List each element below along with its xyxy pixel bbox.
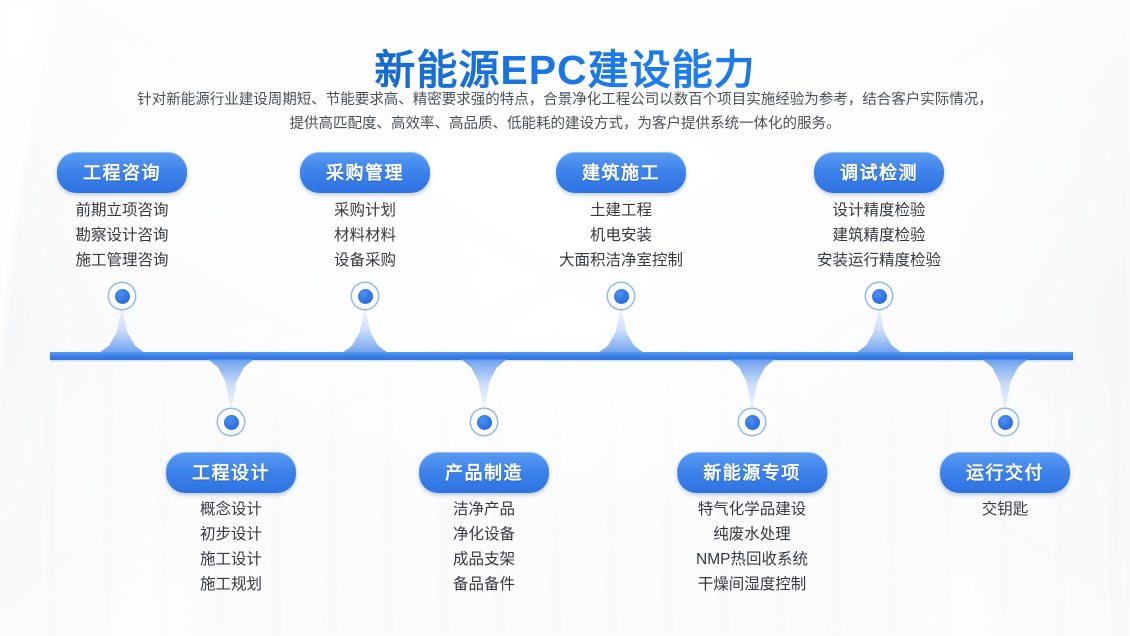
- list-item: 施工规划: [200, 572, 262, 597]
- timeline-dot-commissioning-testing[interactable]: [866, 283, 892, 309]
- page-subtitle: 针对新能源行业建设周期短、节能要求高、精密要求强的特点，合景净化工程公司以数百个…: [65, 88, 1065, 136]
- node-items-commissioning-testing: 设计精度检验 建筑精度检验 安装运行精度检验: [817, 198, 941, 273]
- list-item: 净化设备: [453, 522, 515, 547]
- slide-content: 新能源EPC建设能力 针对新能源行业建设周期短、节能要求高、精密要求强的特点，合…: [0, 0, 1130, 636]
- list-item: 干燥间湿度控制: [696, 572, 808, 597]
- node-pill-engineering-design[interactable]: 工程设计: [166, 452, 296, 493]
- node-pill-building-construction[interactable]: 建筑施工: [556, 152, 686, 193]
- list-item: 洁净产品: [453, 497, 515, 522]
- timeline-dot-operation-delivery[interactable]: [992, 409, 1018, 435]
- list-item: 机电安装: [559, 223, 683, 248]
- list-item: 前期立项咨询: [75, 198, 168, 223]
- list-item: 施工管理咨询: [75, 248, 168, 273]
- list-item: 建筑精度检验: [817, 223, 941, 248]
- timeline-dot-engineering-design[interactable]: [218, 409, 244, 435]
- list-item: 勘察设计咨询: [75, 223, 168, 248]
- node-items-new-energy-special: 特气化学品建设 纯废水处理 NMP热回收系统 干燥间湿度控制: [696, 497, 808, 597]
- list-item: NMP热回收系统: [696, 547, 808, 572]
- node-pill-product-manufacturing[interactable]: 产品制造: [419, 452, 549, 493]
- timeline-dot-new-energy-special[interactable]: [739, 409, 765, 435]
- node-items-building-construction: 土建工程 机电安装 大面积洁净室控制: [559, 198, 683, 273]
- list-item: 大面积洁净室控制: [559, 248, 683, 273]
- node-items-procurement-management: 采购计划 材料材料 设备采购: [334, 198, 396, 273]
- list-item: 采购计划: [334, 198, 396, 223]
- list-item: 交钥匙: [982, 497, 1029, 522]
- node-pill-procurement-management[interactable]: 采购管理: [300, 152, 430, 193]
- node-items-engineering-design: 概念设计 初步设计 施工设计 施工规划: [200, 497, 262, 597]
- list-item: 安装运行精度检验: [817, 248, 941, 273]
- page-title: 新能源EPC建设能力: [0, 36, 1130, 96]
- list-item: 材料材料: [334, 223, 396, 248]
- node-pill-new-energy-special[interactable]: 新能源专项: [677, 452, 827, 493]
- list-item: 纯废水处理: [696, 522, 808, 547]
- timeline-dot-building-construction[interactable]: [608, 283, 634, 309]
- list-item: 初步设计: [200, 522, 262, 547]
- node-pill-operation-delivery[interactable]: 运行交付: [940, 452, 1070, 493]
- timeline-dot-engineering-consulting[interactable]: [109, 283, 135, 309]
- subtitle-line-2: 提供高匹配度、高效率、高品质、低能耗的建设方式，为客户提供系统一体化的服务。: [65, 112, 1065, 136]
- node-pill-commissioning-testing[interactable]: 调试检测: [814, 152, 944, 193]
- node-items-operation-delivery: 交钥匙: [982, 497, 1029, 522]
- list-item: 设计精度检验: [817, 198, 941, 223]
- list-item: 概念设计: [200, 497, 262, 522]
- list-item: 设备采购: [334, 248, 396, 273]
- list-item: 特气化学品建设: [696, 497, 808, 522]
- node-pill-engineering-consulting[interactable]: 工程咨询: [57, 152, 187, 193]
- list-item: 土建工程: [559, 198, 683, 223]
- timeline-dot-product-manufacturing[interactable]: [471, 409, 497, 435]
- list-item: 成品支架: [453, 547, 515, 572]
- list-item: 施工设计: [200, 547, 262, 572]
- list-item: 备品备件: [453, 572, 515, 597]
- timeline-dot-procurement-management[interactable]: [352, 283, 378, 309]
- node-items-engineering-consulting: 前期立项咨询 勘察设计咨询 施工管理咨询: [75, 198, 168, 273]
- timeline-spine: [50, 352, 1073, 360]
- node-items-product-manufacturing: 洁净产品 净化设备 成品支架 备品备件: [453, 497, 515, 597]
- subtitle-line-1: 针对新能源行业建设周期短、节能要求高、精密要求强的特点，合景净化工程公司以数百个…: [65, 88, 1065, 112]
- infographic-slide: 新能源EPC建设能力 针对新能源行业建设周期短、节能要求高、精密要求强的特点，合…: [0, 0, 1130, 636]
